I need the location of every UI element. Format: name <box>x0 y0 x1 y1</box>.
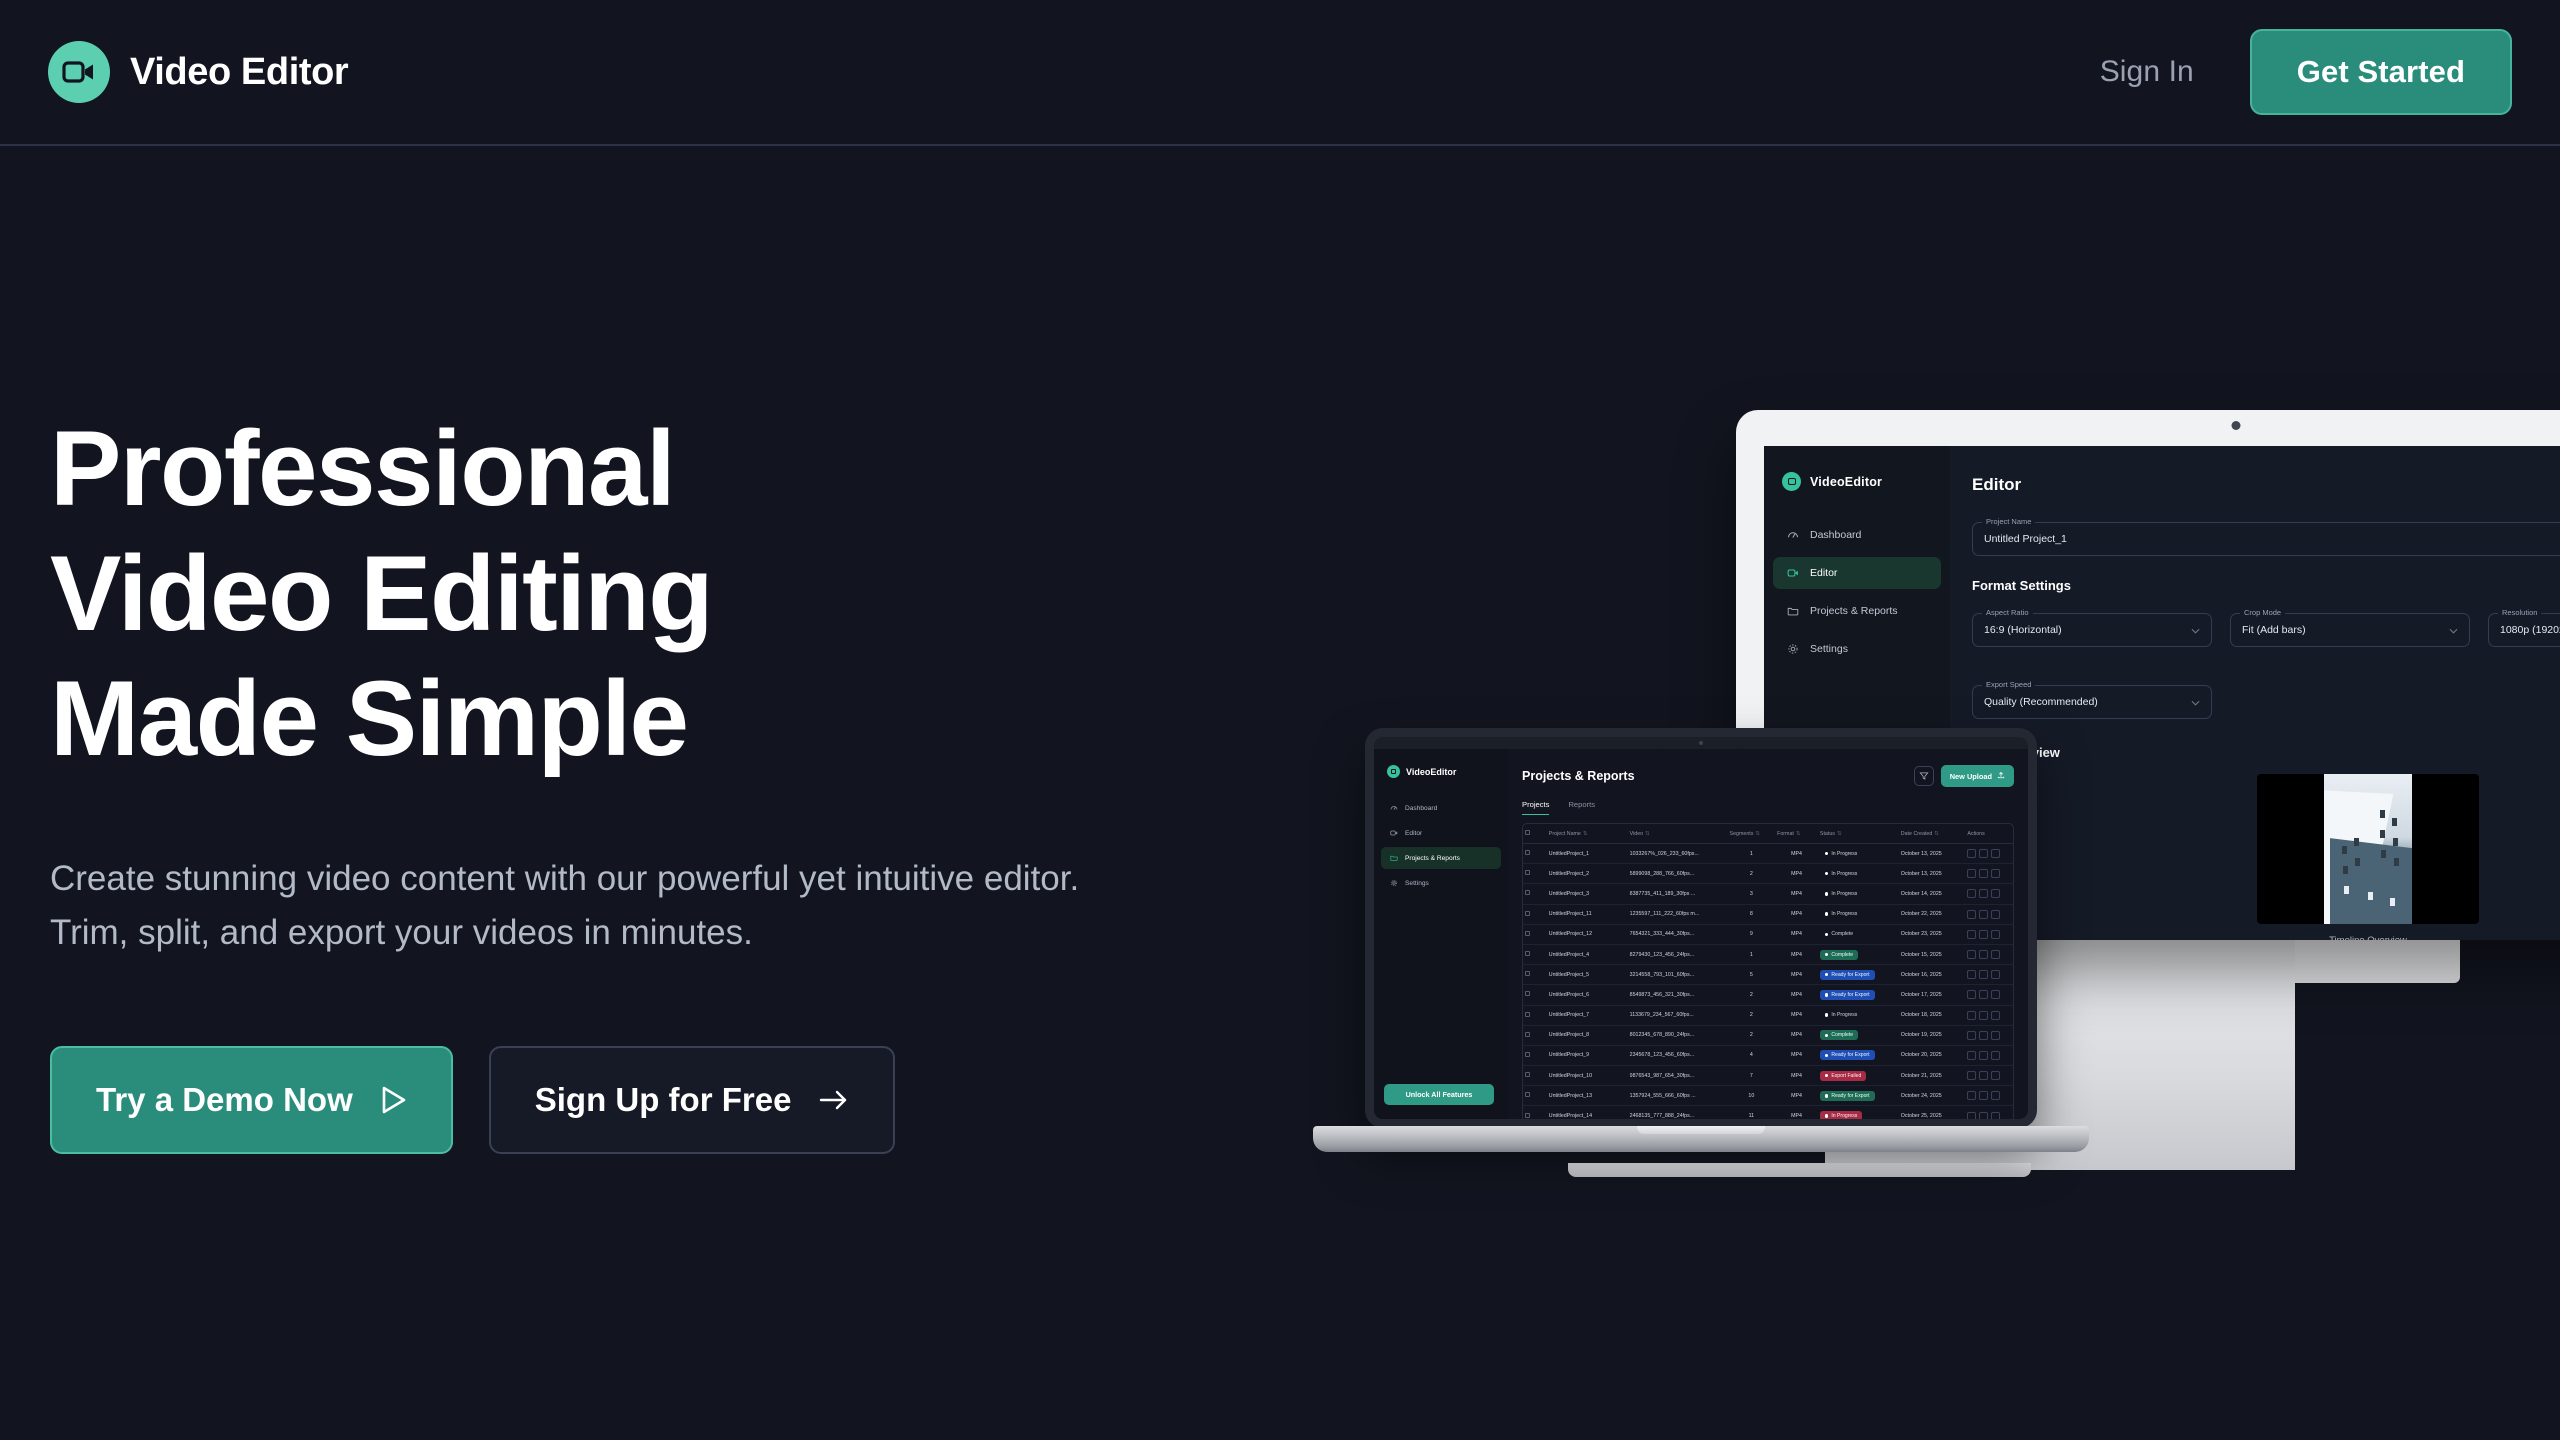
cell-project-name: UntitledProject_3 <box>1547 884 1628 904</box>
row-checkbox[interactable] <box>1523 1066 1547 1086</box>
folder-icon <box>1787 605 1799 617</box>
sidebar-item-projects-reports[interactable]: Projects & Reports <box>1773 595 1941 627</box>
resolution-select[interactable]: Resolution 1080p (1920x1080) <box>2488 613 2560 647</box>
checkbox-icon[interactable] <box>1525 890 1530 895</box>
sign-in-link[interactable]: Sign In <box>2100 55 2194 89</box>
sort-icon: ⇅ <box>1645 831 1649 837</box>
cell-segments: 2 <box>1728 985 1776 1005</box>
hero-title-line-1: Professional <box>50 408 674 528</box>
trash-icon[interactable] <box>1991 1031 2000 1040</box>
download-icon[interactable] <box>1979 1071 1988 1080</box>
cell-segments: 1 <box>1728 944 1776 964</box>
cell-video: 1235597_111_222_60fps m... <box>1628 904 1728 924</box>
cell-video: 1133679_234_567_60fps... <box>1628 1005 1728 1025</box>
row-checkbox[interactable] <box>1523 1106 1547 1119</box>
cell-date-created: October 22, 2025 <box>1899 904 1966 924</box>
column-project-name[interactable]: Project Name⇅ <box>1547 824 1628 844</box>
table-row[interactable]: UntitledProject_111235597_111_222_60fps … <box>1523 904 2013 924</box>
sidebar-label: Dashboard <box>1810 529 1861 541</box>
row-checkbox[interactable] <box>1523 944 1547 964</box>
column-label: Video <box>1630 831 1643 837</box>
row-checkbox[interactable] <box>1523 985 1547 1005</box>
cell-video: 8012345_678_890_24fps... <box>1628 1025 1728 1045</box>
checkbox-icon[interactable] <box>1525 1092 1530 1097</box>
cell-segments: 5 <box>1728 965 1776 985</box>
cell-format: MP4 <box>1775 864 1818 884</box>
sidebar-label: Editor <box>1810 567 1837 579</box>
checkbox-icon[interactable] <box>1525 951 1530 956</box>
table-header-row: Project Name⇅ Video⇅ Segments⇅ Format⇅ S… <box>1523 824 2013 844</box>
cell-project-name: UntitledProject_2 <box>1547 864 1628 884</box>
status-label: Complete <box>1831 952 1853 958</box>
cell-status: In Progress <box>1818 844 1899 864</box>
cell-segments: 7 <box>1728 1066 1776 1086</box>
cell-video: 1033267%_026_233_60fps... <box>1628 844 1728 864</box>
video-camera-icon <box>48 41 110 103</box>
table-head: Project Name⇅ Video⇅ Segments⇅ Format⇅ S… <box>1523 824 2013 844</box>
status-label: Complete <box>1831 931 1853 937</box>
cell-status: In Progress <box>1818 1005 1899 1025</box>
cell-status: In Progress <box>1818 904 1899 924</box>
crop-mode-select[interactable]: Crop Mode Fit (Add bars) <box>2230 613 2470 647</box>
download-icon[interactable] <box>1979 1011 1988 1020</box>
edit-icon[interactable] <box>1967 1031 1976 1040</box>
chevron-down-icon <box>2449 621 2458 639</box>
cell-status: Complete <box>1818 924 1899 944</box>
laptop-top-actions: New Upload <box>1914 765 2014 787</box>
column-actions: Actions <box>1965 824 2013 844</box>
cell-video: 3214558_793_101_60fps... <box>1628 965 1728 985</box>
cell-actions <box>1965 1086 2013 1106</box>
cell-date-created: October 18, 2025 <box>1899 1005 1966 1025</box>
cell-date-created: October 13, 2025 <box>1899 844 1966 864</box>
folder-icon <box>1390 854 1398 862</box>
download-icon[interactable] <box>1979 990 1988 999</box>
status-badge: Ready for Export <box>1820 1091 1875 1101</box>
cell-video: 1357924_555_666_60fps ... <box>1628 1086 1728 1106</box>
cell-video: 2345678_123_456_60fps... <box>1628 1045 1728 1065</box>
cell-project-name: UntitledProject_11 <box>1547 904 1628 924</box>
cell-status: Ready for Export <box>1818 1086 1899 1106</box>
export-speed-select[interactable]: Export Speed Quality (Recommended) <box>1972 685 2212 719</box>
cell-status: In Progress <box>1818 1106 1899 1119</box>
trash-icon[interactable] <box>1991 930 2000 939</box>
laptop-mockup: VideoEditor Dashboard Editor Projects & … <box>1365 728 2037 1128</box>
video-preview-player[interactable] <box>2257 774 2479 924</box>
hero-title-line-3: Made Simple <box>50 658 688 778</box>
laptop-page-title: Projects & Reports <box>1522 769 1635 783</box>
chevron-down-icon <box>2191 621 2200 639</box>
cell-segments: 10 <box>1728 1086 1776 1106</box>
gear-icon <box>1390 879 1398 887</box>
gauge-icon <box>1390 804 1398 812</box>
sort-icon: ⇅ <box>1796 831 1800 837</box>
cell-project-name: UntitledProject_1 <box>1547 844 1628 864</box>
laptop-base <box>1313 1126 2089 1152</box>
laptop-notch <box>1658 737 1744 749</box>
trash-icon[interactable] <box>1991 869 2000 878</box>
cell-project-name: UntitledProject_12 <box>1547 924 1628 944</box>
row-checkbox[interactable] <box>1523 1025 1547 1045</box>
cell-segments: 2 <box>1728 1005 1776 1025</box>
laptop-topbar: Projects & Reports New Upload <box>1522 765 2014 787</box>
table-row[interactable]: UntitledProject_88012345_678_890_24fps..… <box>1523 1025 2013 1045</box>
checkbox-icon[interactable] <box>1525 1012 1530 1017</box>
resolution-legend: Resolution <box>2498 608 2541 617</box>
status-label: In Progress <box>1831 1012 1857 1018</box>
cell-project-name: UntitledProject_14 <box>1547 1106 1628 1119</box>
play-triangle-icon <box>381 1085 407 1115</box>
row-checkbox[interactable] <box>1523 884 1547 904</box>
trash-icon[interactable] <box>1991 1051 2000 1060</box>
column-segments[interactable]: Segments⇅ <box>1728 824 1776 844</box>
cell-format: MP4 <box>1775 884 1818 904</box>
cell-date-created: October 15, 2025 <box>1899 944 1966 964</box>
sidebar-item-settings[interactable]: Settings <box>1381 872 1501 894</box>
format-settings-grid: Aspect Ratio 16:9 (Horizontal) Crop Mode… <box>1972 593 2560 719</box>
edit-icon[interactable] <box>1967 970 1976 979</box>
column-label: Date Created <box>1901 831 1933 837</box>
projects-table-wrapper: Project Name⇅ Video⇅ Segments⇅ Format⇅ S… <box>1522 823 2014 1119</box>
site-header: Video Editor Sign In Get Started <box>0 0 2560 146</box>
row-checkbox[interactable] <box>1523 904 1547 924</box>
crop-mode-value: Fit (Add bars) <box>2242 624 2306 636</box>
hero-actions: Try a Demo Now Sign Up for Free <box>50 1046 1200 1154</box>
checkbox-icon[interactable] <box>1525 1113 1530 1118</box>
project-name-value: Untitled Project_1 <box>1984 533 2067 545</box>
trash-icon[interactable] <box>1991 1091 2000 1100</box>
column-format[interactable]: Format⇅ <box>1775 824 1818 844</box>
cell-format: MP4 <box>1775 1005 1818 1025</box>
column-label: Project Name <box>1549 831 1581 837</box>
cell-project-name: UntitledProject_10 <box>1547 1066 1628 1086</box>
status-label: In Progress <box>1831 891 1857 897</box>
status-label: In Progress <box>1831 851 1857 857</box>
download-icon[interactable] <box>1979 1051 1988 1060</box>
projects-table: Project Name⇅ Video⇅ Segments⇅ Format⇅ S… <box>1523 824 2013 1119</box>
status-badge: In Progress <box>1820 889 1862 899</box>
cell-segments: 8 <box>1728 904 1776 924</box>
project-name-legend: Project Name <box>1982 517 2035 526</box>
cell-video: 8387735_411_189_30fps ... <box>1628 884 1728 904</box>
cell-project-name: UntitledProject_6 <box>1547 985 1628 1005</box>
table-row[interactable]: UntitledProject_38387735_411_189_30fps .… <box>1523 884 2013 904</box>
edit-icon[interactable] <box>1967 889 1976 898</box>
column-select-all[interactable] <box>1523 824 1547 844</box>
cell-project-name: UntitledProject_8 <box>1547 1025 1628 1045</box>
download-icon[interactable] <box>1979 970 1988 979</box>
checkbox-icon[interactable] <box>1525 991 1530 996</box>
row-checkbox[interactable] <box>1523 1086 1547 1106</box>
cell-segments: 9 <box>1728 924 1776 944</box>
cell-status: Ready for Export <box>1818 985 1899 1005</box>
status-label: In Progress <box>1831 871 1857 877</box>
status-label: In Progress <box>1831 911 1857 917</box>
download-icon[interactable] <box>1979 950 1988 959</box>
download-icon[interactable] <box>1979 849 1988 858</box>
try-demo-label: Try a Demo Now <box>96 1081 353 1119</box>
brand-name: Video Editor <box>130 51 348 94</box>
sidebar-item-editor[interactable]: Editor <box>1773 557 1941 589</box>
sidebar-label: Settings <box>1810 643 1848 655</box>
laptop-screen: VideoEditor Dashboard Editor Projects & … <box>1374 749 2028 1119</box>
cell-format: MP4 <box>1775 1045 1818 1065</box>
cell-segments: 2 <box>1728 1025 1776 1045</box>
gauge-icon <box>1787 529 1799 541</box>
download-icon[interactable] <box>1979 1031 1988 1040</box>
cell-project-name: UntitledProject_9 <box>1547 1045 1628 1065</box>
video-camera-icon <box>1387 765 1400 778</box>
cell-actions <box>1965 864 2013 884</box>
column-video[interactable]: Video⇅ <box>1628 824 1728 844</box>
checkbox-icon[interactable] <box>1525 830 1530 835</box>
cell-date-created: October 16, 2025 <box>1899 965 1966 985</box>
sort-icon: ⇅ <box>1934 831 1938 837</box>
cell-segments: 1 <box>1728 844 1776 864</box>
download-icon[interactable] <box>1979 869 1988 878</box>
checkbox-icon[interactable] <box>1525 1032 1530 1037</box>
cell-actions <box>1965 985 2013 1005</box>
cell-video: 8279430_123_456_24fps... <box>1628 944 1728 964</box>
cell-date-created: October 13, 2025 <box>1899 864 1966 884</box>
funnel-icon[interactable] <box>1914 766 1934 786</box>
trash-icon[interactable] <box>1991 910 2000 919</box>
trash-icon[interactable] <box>1991 950 2000 959</box>
laptop-lid: VideoEditor Dashboard Editor Projects & … <box>1365 728 2037 1128</box>
sign-up-free-button[interactable]: Sign Up for Free <box>489 1046 896 1154</box>
cell-actions <box>1965 924 2013 944</box>
column-date-created[interactable]: Date Created⇅ <box>1899 824 1966 844</box>
trash-icon[interactable] <box>1991 970 2000 979</box>
edit-icon[interactable] <box>1967 849 1976 858</box>
new-upload-button[interactable]: New Upload <box>1941 765 2014 787</box>
cell-format: MP4 <box>1775 1106 1818 1119</box>
cell-project-name: UntitledProject_7 <box>1547 1005 1628 1025</box>
resolution-value: 1080p (1920x1080) <box>2500 624 2560 636</box>
cell-video: 8549873_456_321_30fps... <box>1628 985 1728 1005</box>
checkbox-icon[interactable] <box>1525 911 1530 916</box>
table-row[interactable]: UntitledProject_53214558_793_101_60fps..… <box>1523 965 2013 985</box>
laptop-main: Projects & Reports New Upload <box>1508 749 2028 1119</box>
status-label: In Progress <box>1831 1113 1857 1119</box>
cell-date-created: October 19, 2025 <box>1899 1025 1966 1045</box>
status-badge: In Progress <box>1820 909 1862 919</box>
table-row[interactable]: UntitledProject_142468135_777_888_24fps.… <box>1523 1106 2013 1119</box>
table-row[interactable]: UntitledProject_71133679_234_567_60fps..… <box>1523 1005 2013 1025</box>
download-icon[interactable] <box>1979 910 1988 919</box>
cell-segments: 11 <box>1728 1106 1776 1119</box>
cell-segments: 3 <box>1728 884 1776 904</box>
cell-video: 7654321_333_444_30fps... <box>1628 924 1728 944</box>
hero-title-line-2: Video Editing <box>50 533 712 653</box>
trash-icon[interactable] <box>1991 1011 2000 1020</box>
cell-actions <box>1965 1025 2013 1045</box>
row-checkbox[interactable] <box>1523 864 1547 884</box>
hero-subtitle: Create stunning video content with our p… <box>50 852 1110 961</box>
tab-reports[interactable]: Reports <box>1568 800 1595 815</box>
status-badge: In Progress <box>1820 1111 1862 1119</box>
cell-date-created: October 25, 2025 <box>1899 1106 1966 1119</box>
edit-icon[interactable] <box>1967 1112 1976 1119</box>
page-title: Professional Video Editing Made Simple <box>50 406 1110 782</box>
aspect-ratio-select[interactable]: Aspect Ratio 16:9 (Horizontal) <box>1972 613 2212 647</box>
table-row[interactable]: UntitledProject_25899098_288_766_60fps..… <box>1523 864 2013 884</box>
edit-icon[interactable] <box>1967 1071 1976 1080</box>
trash-icon[interactable] <box>1991 889 2000 898</box>
status-label: Export Failed <box>1831 1073 1861 1079</box>
cell-actions <box>1965 904 2013 924</box>
table-row[interactable]: UntitledProject_131357924_555_666_60fps … <box>1523 1086 2013 1106</box>
cell-actions <box>1965 844 2013 864</box>
monitor-topbar: Editor Save Exp <box>1972 468 2560 502</box>
edit-icon[interactable] <box>1967 869 1976 878</box>
new-upload-label: New Upload <box>1950 772 1992 781</box>
brand[interactable]: Video Editor <box>48 41 348 103</box>
sidebar-label: Projects & Reports <box>1405 855 1460 862</box>
video-camera-icon <box>1787 567 1799 579</box>
sidebar-label: Settings <box>1405 880 1429 887</box>
table-row[interactable]: UntitledProject_48279430_123_456_24fps..… <box>1523 944 2013 964</box>
monitor-brand-name: VideoEditor <box>1810 475 1882 489</box>
sidebar-item-dashboard[interactable]: Dashboard <box>1773 519 1941 551</box>
cell-actions <box>1965 884 2013 904</box>
column-label: Status <box>1820 831 1835 837</box>
crop-mode-legend: Crop Mode <box>2240 608 2285 617</box>
cell-actions <box>1965 1106 2013 1119</box>
monitor-base <box>1568 1163 2031 1177</box>
tab-projects[interactable]: Projects <box>1522 800 1549 815</box>
edit-icon[interactable] <box>1967 1011 1976 1020</box>
cell-actions <box>1965 1045 2013 1065</box>
trash-icon[interactable] <box>1991 849 2000 858</box>
unlock-all-features-button[interactable]: Unlock All Features <box>1384 1084 1494 1105</box>
export-speed-value: Quality (Recommended) <box>1984 696 2098 708</box>
export-speed-legend: Export Speed <box>1982 680 2035 689</box>
status-badge: In Progress <box>1820 1010 1862 1020</box>
cell-format: MP4 <box>1775 944 1818 964</box>
table-row[interactable]: UntitledProject_68549873_456_321_30fps..… <box>1523 985 2013 1005</box>
cell-format: MP4 <box>1775 965 1818 985</box>
table-row[interactable]: UntitledProject_127654321_333_444_30fps.… <box>1523 924 2013 944</box>
project-name-field[interactable]: Project Name Untitled Project_1 <box>1972 522 2560 556</box>
checkbox-icon[interactable] <box>1525 971 1530 976</box>
edit-icon[interactable] <box>1967 990 1976 999</box>
edit-icon[interactable] <box>1967 950 1976 959</box>
status-badge: Ready for Export <box>1820 1050 1875 1060</box>
sidebar-item-editor[interactable]: Editor <box>1381 822 1501 844</box>
table-row[interactable]: UntitledProject_92345678_123_456_60fps..… <box>1523 1045 2013 1065</box>
status-label: Ready for Export <box>1831 1093 1869 1099</box>
cell-status: Ready for Export <box>1818 965 1899 985</box>
sidebar-item-dashboard[interactable]: Dashboard <box>1381 797 1501 819</box>
status-badge: Ready for Export <box>1820 990 1875 1000</box>
row-checkbox[interactable] <box>1523 1045 1547 1065</box>
preview-thumbnail-image <box>2324 774 2412 924</box>
header-nav: Sign In Get Started <box>2100 29 2512 115</box>
monitor-main: Editor Save Exp <box>1950 446 2560 940</box>
cell-project-name: UntitledProject_5 <box>1547 965 1628 985</box>
checkbox-icon[interactable] <box>1525 931 1530 936</box>
cell-format: MP4 <box>1775 924 1818 944</box>
download-icon[interactable] <box>1979 930 1988 939</box>
column-status[interactable]: Status⇅ <box>1818 824 1899 844</box>
cell-project-name: UntitledProject_4 <box>1547 944 1628 964</box>
sort-icon: ⇅ <box>1837 831 1841 837</box>
gear-icon <box>1787 643 1799 655</box>
row-checkbox[interactable] <box>1523 844 1547 864</box>
status-badge: Complete <box>1820 950 1858 960</box>
trash-icon[interactable] <box>1991 990 2000 999</box>
cell-date-created: October 24, 2025 <box>1899 1086 1966 1106</box>
sidebar-label: Editor <box>1405 830 1422 837</box>
laptop-sidebar: VideoEditor Dashboard Editor Projects & … <box>1374 749 1508 1119</box>
chevron-down-icon <box>2191 693 2200 711</box>
table-row[interactable]: UntitledProject_11033267%_026_233_60fps.… <box>1523 844 2013 864</box>
checkbox-icon[interactable] <box>1525 850 1530 855</box>
column-label: Format <box>1777 831 1794 837</box>
status-label: Complete <box>1831 1032 1853 1038</box>
row-checkbox[interactable] <box>1523 1005 1547 1025</box>
row-checkbox[interactable] <box>1523 924 1547 944</box>
sidebar-item-settings[interactable]: Settings <box>1773 633 1941 665</box>
cell-status: Complete <box>1818 944 1899 964</box>
edit-icon[interactable] <box>1967 1091 1976 1100</box>
edit-icon[interactable] <box>1967 930 1976 939</box>
sidebar-item-projects-reports[interactable]: Projects & Reports <box>1381 847 1501 869</box>
download-icon[interactable] <box>1979 889 1988 898</box>
aspect-ratio-value: 16:9 (Horizontal) <box>1984 624 2062 636</box>
sign-up-free-label: Sign Up for Free <box>535 1081 792 1119</box>
cell-date-created: October 14, 2025 <box>1899 884 1966 904</box>
cell-status: Export Failed <box>1818 1066 1899 1086</box>
edit-icon[interactable] <box>1967 1051 1976 1060</box>
try-demo-button[interactable]: Try a Demo Now <box>50 1046 453 1154</box>
cell-video: 5899098_288_766_60fps... <box>1628 864 1728 884</box>
cell-date-created: October 23, 2025 <box>1899 924 1966 944</box>
aspect-ratio-legend: Aspect Ratio <box>1982 608 2033 617</box>
status-badge: Export Failed <box>1820 1071 1866 1081</box>
building-windows <box>2324 774 2412 924</box>
get-started-button[interactable]: Get Started <box>2250 29 2512 115</box>
table-row[interactable]: UntitledProject_109876543_987_654_30fps.… <box>1523 1066 2013 1086</box>
checkbox-icon[interactable] <box>1525 1052 1530 1057</box>
monitor-page-title: Editor <box>1972 475 2021 495</box>
trash-icon[interactable] <box>1991 1112 2000 1119</box>
cell-video: 2468135_777_888_24fps... <box>1628 1106 1728 1119</box>
status-label: Ready for Export <box>1831 1052 1869 1058</box>
cell-actions <box>1965 1005 2013 1025</box>
download-icon[interactable] <box>1979 1091 1988 1100</box>
trash-icon[interactable] <box>1991 1071 2000 1080</box>
status-badge: Complete <box>1820 1030 1858 1040</box>
cell-format: MP4 <box>1775 904 1818 924</box>
cell-segments: 2 <box>1728 864 1776 884</box>
download-icon[interactable] <box>1979 1112 1988 1119</box>
edit-icon[interactable] <box>1967 910 1976 919</box>
laptop-brand-name: VideoEditor <box>1406 767 1456 777</box>
table-body: UntitledProject_11033267%_026_233_60fps.… <box>1523 844 2013 1120</box>
sort-icon: ⇅ <box>1755 831 1759 837</box>
checkbox-icon[interactable] <box>1525 870 1530 875</box>
upload-icon <box>1997 771 2005 781</box>
status-label: Ready for Export <box>1831 992 1869 998</box>
checkbox-icon[interactable] <box>1525 1072 1530 1077</box>
laptop-brand: VideoEditor <box>1374 765 1508 778</box>
row-checkbox[interactable] <box>1523 965 1547 985</box>
cell-status: In Progress <box>1818 884 1899 904</box>
sort-icon: ⇅ <box>1583 831 1587 837</box>
status-label: Ready for Export <box>1831 972 1869 978</box>
